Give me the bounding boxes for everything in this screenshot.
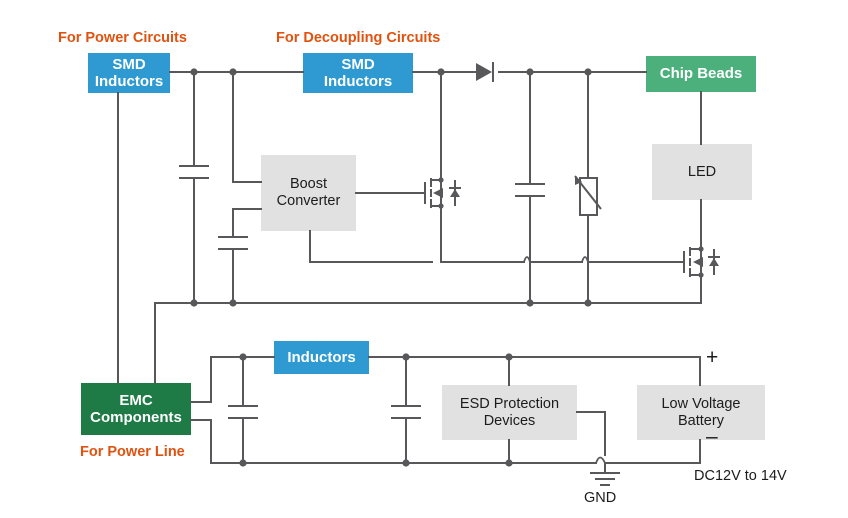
inductors-power-line-label[interactable]: Inductors: [274, 341, 369, 374]
annotation-for-power-circuits: For Power Circuits: [58, 30, 187, 46]
esd-protection-devices-line1: ESD Protection: [460, 396, 559, 413]
ground-label: GND: [584, 490, 616, 506]
diode-blocking-triangle: [476, 63, 492, 81]
node-bottom-lower-3: [505, 459, 512, 466]
emc-components-line2: Components: [90, 409, 182, 426]
emc-components-label[interactable]: EMC Components: [81, 383, 191, 435]
mosfet-boost-switch-body-diode-tri: [450, 189, 460, 197]
mosfet-led-driver-body-diode-tri: [709, 258, 719, 266]
node-top-rail-2: [229, 68, 236, 75]
esd-protection-devices-line2: Devices: [460, 413, 559, 430]
wire-emc-out-top: [191, 357, 211, 402]
boost-converter-label[interactable]: Boost Converter: [261, 155, 356, 231]
smd-inductors-decoupling-label[interactable]: SMD Inductors: [303, 53, 413, 93]
node-mosfet1-source: [438, 203, 443, 208]
node-bottom-lower-2: [402, 459, 409, 466]
node-bottom-upper-3: [505, 353, 512, 360]
circuit-diagram-canvas: For Power Circuits For Decoupling Circui…: [0, 0, 848, 518]
boost-converter-line1: Boost: [277, 176, 341, 193]
chip-beads-label[interactable]: Chip Beads: [646, 56, 756, 92]
wire-boost-bottom-to-midrail: [310, 231, 432, 262]
low-voltage-battery-label[interactable]: Low Voltage Battery: [637, 385, 765, 440]
node-bottom-lower-1: [239, 459, 246, 466]
node-top-rail-5: [584, 68, 591, 75]
smd-inductors-power-line2: Inductors: [95, 73, 163, 90]
node-lower-rail-2: [229, 299, 236, 306]
node-mosfet1-drain: [438, 177, 443, 182]
node-top-rail-1: [190, 68, 197, 75]
low-voltage-battery-line2: Battery: [661, 413, 740, 430]
varistor-protection-body: [580, 178, 597, 215]
battery-plus-terminal-label: +: [706, 346, 718, 370]
wire-hop-ground-riser: [596, 458, 605, 464]
node-bottom-upper-1: [239, 353, 246, 360]
low-voltage-battery-line1: Low Voltage: [661, 396, 740, 413]
mosfet-boost-switch-arrow: [433, 188, 443, 198]
wire-node-to-boost-in1: [233, 72, 261, 182]
smd-inductors-decoupling-line1: SMD: [324, 56, 392, 73]
annotation-for-power-line: For Power Line: [80, 444, 185, 460]
smd-inductors-power-label[interactable]: SMD Inductors: [88, 53, 170, 93]
battery-voltage-rating-label: DC12V to 14V: [694, 468, 787, 484]
wire-esd-ground-lead: [577, 412, 605, 455]
smd-inductors-decoupling-line2: Inductors: [324, 73, 392, 90]
boost-converter-line2: Converter: [277, 193, 341, 210]
node-mosfet2-drain: [698, 246, 703, 251]
mosfet-led-driver-arrow: [693, 257, 703, 267]
node-top-rail-3: [437, 68, 444, 75]
led-label[interactable]: LED: [652, 144, 752, 200]
node-lower-rail-4: [584, 299, 591, 306]
esd-protection-devices-label[interactable]: ESD Protection Devices: [442, 385, 577, 440]
annotation-for-decoupling-circuits: For Decoupling Circuits: [276, 30, 440, 46]
smd-inductors-power-line1: SMD: [95, 56, 163, 73]
node-top-rail-4: [526, 68, 533, 75]
node-lower-rail-1: [190, 299, 197, 306]
node-bottom-upper-2: [402, 353, 409, 360]
battery-minus-terminal-label: –: [706, 425, 718, 449]
wire-emc-out-bottom: [191, 420, 211, 463]
node-lower-rail-3: [526, 299, 533, 306]
emc-components-line1: EMC: [90, 392, 182, 409]
